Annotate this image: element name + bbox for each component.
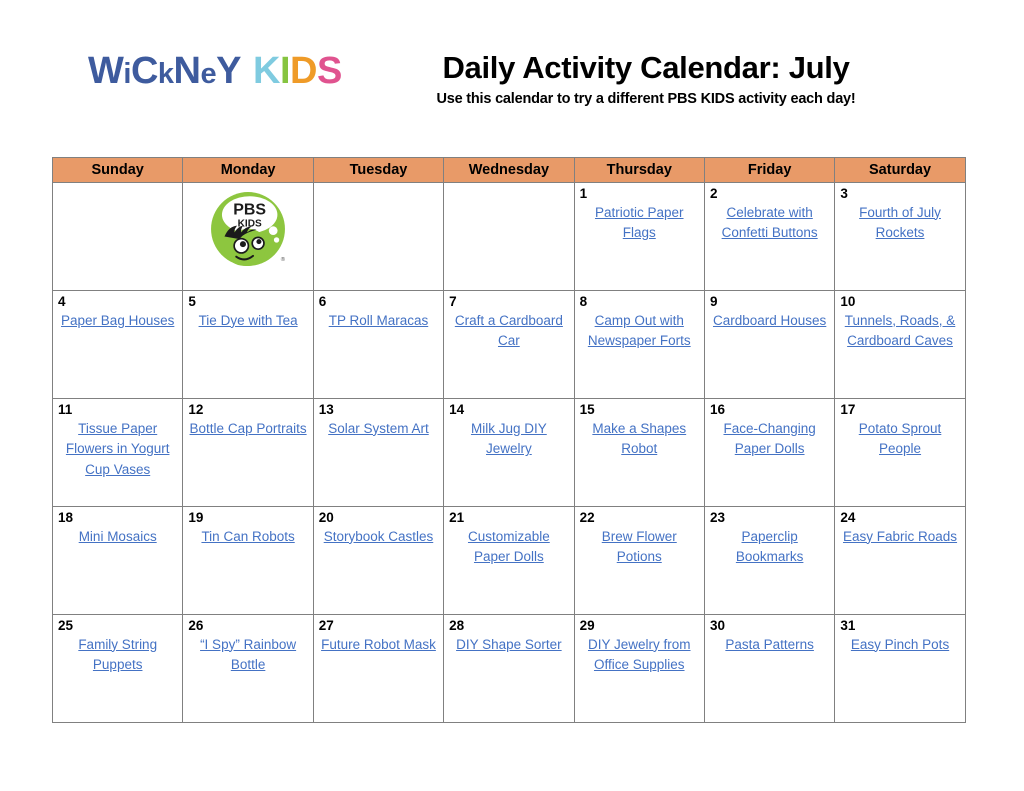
calendar-cell-day-21[interactable]: 21Customizable Paper Dolls (444, 507, 574, 615)
calendar-cell-day-12[interactable]: 12Bottle Cap Portraits (183, 399, 313, 507)
calendar-cell-day-15[interactable]: 15Make a Shapes Robot (574, 399, 704, 507)
title-block: Daily Activity Calendar: July Use this c… (392, 50, 900, 107)
page-header: WiCkNeYKIDS Daily Activity Calendar: Jul… (0, 0, 1024, 120)
calendar-cell-day-7[interactable]: 7Craft a Cardboard Car (444, 291, 574, 399)
day-number: 7 (449, 294, 568, 310)
day-number: 22 (580, 510, 699, 526)
calendar-cell-day-2[interactable]: 2Celebrate with Confetti Buttons (704, 183, 834, 291)
day-number: 1 (580, 186, 699, 202)
activity-link[interactable]: Celebrate with Confetti Buttons (710, 203, 829, 244)
day-number: 26 (188, 618, 307, 634)
activity-link[interactable]: TP Roll Maracas (319, 311, 438, 332)
calendar-cell-day-16[interactable]: 16Face-Changing Paper Dolls (704, 399, 834, 507)
activity-link[interactable]: Patriotic Paper Flags (580, 203, 699, 244)
calendar-cell-day-25[interactable]: 25Family String Puppets (53, 615, 183, 723)
weekday-header-wednesday: Wednesday (444, 158, 574, 183)
day-number: 18 (58, 510, 177, 526)
activity-link[interactable]: Mini Mosaics (58, 527, 177, 548)
activity-link[interactable]: DIY Shape Sorter (449, 635, 568, 656)
calendar-cell-day-6[interactable]: 6TP Roll Maracas (313, 291, 443, 399)
page-subtitle: Use this calendar to try a different PBS… (392, 91, 900, 107)
activity-calendar-table: Sunday Monday Tuesday Wednesday Thursday… (52, 157, 966, 723)
day-number: 21 (449, 510, 568, 526)
activity-link[interactable]: Tin Can Robots (188, 527, 307, 548)
activity-link[interactable]: Brew Flower Potions (580, 527, 699, 568)
wickney-kids-logo: WiCkNeYKIDS (88, 52, 342, 90)
calendar-week-row: 11Tissue Paper Flowers in Yogurt Cup Vas… (53, 399, 966, 507)
day-number: 19 (188, 510, 307, 526)
activity-link[interactable]: Easy Pinch Pots (840, 635, 959, 656)
calendar-cell-day-22[interactable]: 22Brew Flower Potions (574, 507, 704, 615)
weekday-header-sunday: Sunday (53, 158, 183, 183)
activity-link[interactable]: DIY Jewelry from Office Supplies (580, 635, 699, 676)
day-number: 31 (840, 618, 959, 634)
logo-kids: KIDS (253, 50, 342, 92)
weekday-header-saturday: Saturday (835, 158, 965, 183)
day-number: 23 (710, 510, 829, 526)
activity-link[interactable]: Storybook Castles (319, 527, 438, 548)
day-number: 20 (319, 510, 438, 526)
calendar-body: PBSKIDS®1Patriotic Paper Flags2Celebrate… (53, 183, 966, 723)
svg-text:PBS: PBS (233, 202, 266, 219)
day-number: 9 (710, 294, 829, 310)
activity-link[interactable]: Tunnels, Roads, & Cardboard Caves (840, 311, 959, 352)
activity-link[interactable]: Fourth of July Rockets (840, 203, 959, 244)
day-number: 5 (188, 294, 307, 310)
day-number: 3 (840, 186, 959, 202)
day-number: 4 (58, 294, 177, 310)
activity-link[interactable]: Craft a Cardboard Car (449, 311, 568, 352)
day-number: 25 (58, 618, 177, 634)
day-number: 12 (188, 402, 307, 418)
weekday-header-thursday: Thursday (574, 158, 704, 183)
calendar-cell-day-24[interactable]: 24Easy Fabric Roads (835, 507, 965, 615)
calendar-cell-day-1[interactable]: 1Patriotic Paper Flags (574, 183, 704, 291)
calendar-cell-pbs-logo: PBSKIDS® (183, 183, 313, 291)
weekday-header-row: Sunday Monday Tuesday Wednesday Thursday… (53, 158, 966, 183)
day-number: 30 (710, 618, 829, 634)
day-number: 8 (580, 294, 699, 310)
activity-link[interactable]: Pasta Patterns (710, 635, 829, 656)
day-number: 17 (840, 402, 959, 418)
calendar-cell-day-27[interactable]: 27Future Robot Mask (313, 615, 443, 723)
day-number: 11 (58, 402, 177, 418)
activity-link[interactable]: Make a Shapes Robot (580, 419, 699, 460)
calendar-cell-day-5[interactable]: 5Tie Dye with Tea (183, 291, 313, 399)
day-number: 28 (449, 618, 568, 634)
calendar-cell-day-19[interactable]: 19Tin Can Robots (183, 507, 313, 615)
calendar-week-row: 4Paper Bag Houses5Tie Dye with Tea6TP Ro… (53, 291, 966, 399)
day-number: 6 (319, 294, 438, 310)
calendar-week-row: 18Mini Mosaics19Tin Can Robots20Storyboo… (53, 507, 966, 615)
pbs-kids-icon: PBSKIDS® (206, 187, 290, 271)
calendar-cell-day-9[interactable]: 9Cardboard Houses (704, 291, 834, 399)
calendar-cell-day-29[interactable]: 29DIY Jewelry from Office Supplies (574, 615, 704, 723)
activity-link[interactable]: Easy Fabric Roads (840, 527, 959, 548)
day-number: 10 (840, 294, 959, 310)
calendar-cell-day-13[interactable]: 13Solar System Art (313, 399, 443, 507)
calendar-cell-day-30[interactable]: 30Pasta Patterns (704, 615, 834, 723)
logo-wickney: WiCkNeY (88, 50, 241, 92)
calendar-cell-day-4[interactable]: 4Paper Bag Houses (53, 291, 183, 399)
calendar-cell-day-14[interactable]: 14Milk Jug DIY Jewelry (444, 399, 574, 507)
calendar-cell-day-17[interactable]: 17Potato Sprout People (835, 399, 965, 507)
day-number: 2 (710, 186, 829, 202)
calendar-cell-day-20[interactable]: 20Storybook Castles (313, 507, 443, 615)
calendar-cell-empty (444, 183, 574, 291)
day-number: 29 (580, 618, 699, 634)
calendar-cell-day-10[interactable]: 10Tunnels, Roads, & Cardboard Caves (835, 291, 965, 399)
day-number: 24 (840, 510, 959, 526)
calendar-cell-day-3[interactable]: 3Fourth of July Rockets (835, 183, 965, 291)
calendar-cell-day-23[interactable]: 23Paperclip Bookmarks (704, 507, 834, 615)
activity-link[interactable]: Potato Sprout People (840, 419, 959, 460)
activity-link[interactable]: Camp Out with Newspaper Forts (580, 311, 699, 352)
activity-link[interactable]: Family String Puppets (58, 635, 177, 676)
calendar-cell-empty (53, 183, 183, 291)
calendar-cell-day-28[interactable]: 28DIY Shape Sorter (444, 615, 574, 723)
calendar-cell-day-8[interactable]: 8Camp Out with Newspaper Forts (574, 291, 704, 399)
svg-text:®: ® (281, 256, 286, 263)
calendar-cell-day-18[interactable]: 18Mini Mosaics (53, 507, 183, 615)
calendar-cell-empty (313, 183, 443, 291)
calendar-week-row: PBSKIDS®1Patriotic Paper Flags2Celebrate… (53, 183, 966, 291)
activity-link[interactable]: Face-Changing Paper Dolls (710, 419, 829, 460)
activity-link[interactable]: Tie Dye with Tea (188, 311, 307, 332)
day-number: 15 (580, 402, 699, 418)
day-number: 27 (319, 618, 438, 634)
activity-link[interactable]: Tissue Paper Flowers in Yogurt Cup Vases (58, 419, 177, 481)
activity-link[interactable]: Paper Bag Houses (58, 311, 177, 332)
calendar-week-row: 25Family String Puppets26“I Spy” Rainbow… (53, 615, 966, 723)
day-number: 14 (449, 402, 568, 418)
weekday-header-friday: Friday (704, 158, 834, 183)
day-number: 13 (319, 402, 438, 418)
calendar-cell-day-11[interactable]: 11Tissue Paper Flowers in Yogurt Cup Vas… (53, 399, 183, 507)
activity-link[interactable]: Bottle Cap Portraits (188, 419, 307, 440)
activity-link[interactable]: Paperclip Bookmarks (710, 527, 829, 568)
activity-link[interactable]: Customizable Paper Dolls (449, 527, 568, 568)
calendar-cell-day-31[interactable]: 31Easy Pinch Pots (835, 615, 965, 723)
activity-link[interactable]: Cardboard Houses (710, 311, 829, 332)
weekday-header-tuesday: Tuesday (313, 158, 443, 183)
activity-link[interactable]: Milk Jug DIY Jewelry (449, 419, 568, 460)
calendar-cell-day-26[interactable]: 26“I Spy” Rainbow Bottle (183, 615, 313, 723)
activity-link[interactable]: “I Spy” Rainbow Bottle (188, 635, 307, 676)
activity-link[interactable]: Future Robot Mask (319, 635, 438, 656)
day-number: 16 (710, 402, 829, 418)
page-title: Daily Activity Calendar: July (392, 50, 900, 86)
calendar-container: Sunday Monday Tuesday Wednesday Thursday… (52, 157, 965, 723)
activity-link[interactable]: Solar System Art (319, 419, 438, 440)
weekday-header-monday: Monday (183, 158, 313, 183)
